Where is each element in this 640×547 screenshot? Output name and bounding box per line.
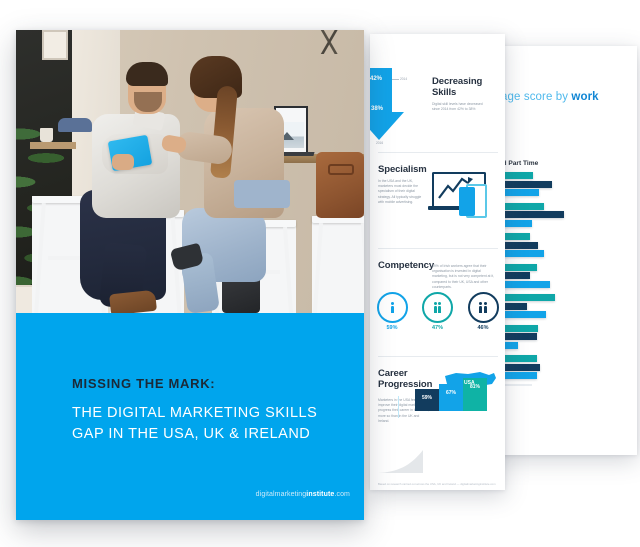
section-divider (378, 248, 498, 249)
photo-wall-hooks (308, 30, 354, 54)
people-ring-icon (422, 292, 453, 323)
people-ring-icon (468, 292, 499, 323)
section-specialism: Specialism In the USA and the UK, market… (370, 160, 505, 246)
career-step-bar: 67% (439, 384, 463, 411)
person-icon (438, 302, 441, 313)
person-icon (391, 302, 394, 313)
document-page-infographic[interactable]: 42% 38% 2014 2016 Decreasing Skills Digi… (370, 34, 505, 490)
person-icon (434, 302, 437, 313)
screenshot-stage: percentage score by work Employed Part T… (0, 0, 640, 547)
arrow-tick-line (392, 79, 399, 80)
people-ring-icon (377, 292, 408, 323)
career-step-bar: 59% (415, 389, 439, 411)
arrow-tick-bottom-label: 2016 (376, 141, 383, 145)
decreasing-skills-text: Decreasing Skills Digital skill levels h… (432, 76, 496, 112)
section-competency: Competency 59% of Irish workers agree th… (370, 256, 505, 348)
page-title: MISSING THE MARK: (72, 376, 215, 391)
person-icon (479, 302, 482, 313)
arrow-top-value: 42% (370, 76, 382, 82)
competency-stat-group: 59%47%46% (372, 292, 503, 331)
competency-stat-value: 47% (418, 325, 458, 331)
cover-subtitle: THE DIGITAL MARKETING SKILLS GAP IN THE … (72, 403, 322, 445)
usa-connector-line (398, 396, 399, 418)
bar-group (487, 264, 634, 288)
ebook-cover[interactable]: MISSING THE MARK: THE DIGITAL MARKETING … (16, 30, 364, 520)
competency-body: 59% of Irish workers agree that their or… (432, 264, 496, 290)
document-page-bar-chart[interactable]: percentage score by work Employed Part T… (487, 46, 637, 455)
section-divider (378, 152, 498, 153)
competency-heading: Competency (378, 260, 434, 271)
photo-man-shoe (109, 290, 157, 313)
decreasing-skills-body: Digital skill levels have decreased sinc… (432, 102, 490, 112)
usa-map-label: USA (464, 380, 475, 386)
competency-stat: 46% (463, 292, 503, 331)
arrow-tick-top-label: 2014 (400, 77, 407, 81)
cover-photo (16, 30, 364, 313)
section-decreasing-skills: 42% 38% 2014 2016 Decreasing Skills Digi… (370, 62, 505, 146)
bar-group (487, 294, 634, 318)
specialism-body: In the USA and the UK, marketers must de… (378, 179, 424, 205)
bar-chart-plot (487, 172, 634, 386)
section-divider (378, 356, 498, 357)
competency-stat: 59% (372, 292, 412, 331)
bar-group (487, 203, 634, 227)
bar-group (487, 355, 634, 379)
photo-man-beard (134, 92, 162, 112)
competency-stat-value: 59% (372, 325, 412, 331)
section-career-progression: Career Progression Marketers in the USA … (370, 364, 505, 484)
specialism-text: Specialism In the USA and the UK, market… (378, 164, 428, 205)
photo-brown-bag (316, 152, 364, 218)
brand-logo: digitalmarketinginstitute.com (256, 491, 350, 498)
competency-stat: 47% (418, 292, 458, 331)
down-arrow-icon: 42% 38% 2014 2016 (370, 68, 414, 146)
person-icon (484, 302, 487, 313)
laptop-and-phone-icon (432, 170, 498, 226)
photo-picture-frame (42, 30, 68, 60)
progression-curve (378, 426, 498, 474)
bar-group (487, 172, 634, 196)
bar-group (487, 325, 634, 349)
career-step-bars: 59%67%81% (415, 378, 487, 411)
infographic-footnote: Based on research carried out across the… (378, 482, 496, 486)
decreasing-skills-heading: Decreasing Skills (432, 76, 496, 98)
bar-group (487, 233, 634, 257)
photo-stool (312, 216, 364, 313)
specialism-heading: Specialism (378, 164, 428, 175)
arrow-bottom-value: 38% (371, 106, 383, 112)
photo-man-hand (112, 154, 134, 170)
photo-woman-shirt (234, 180, 290, 208)
photo-man-hair (126, 62, 168, 86)
competency-stat-value: 46% (463, 325, 503, 331)
bar-chart-title: percentage score by work (487, 91, 637, 103)
cover-title-panel: MISSING THE MARK: THE DIGITAL MARKETING … (16, 313, 364, 520)
